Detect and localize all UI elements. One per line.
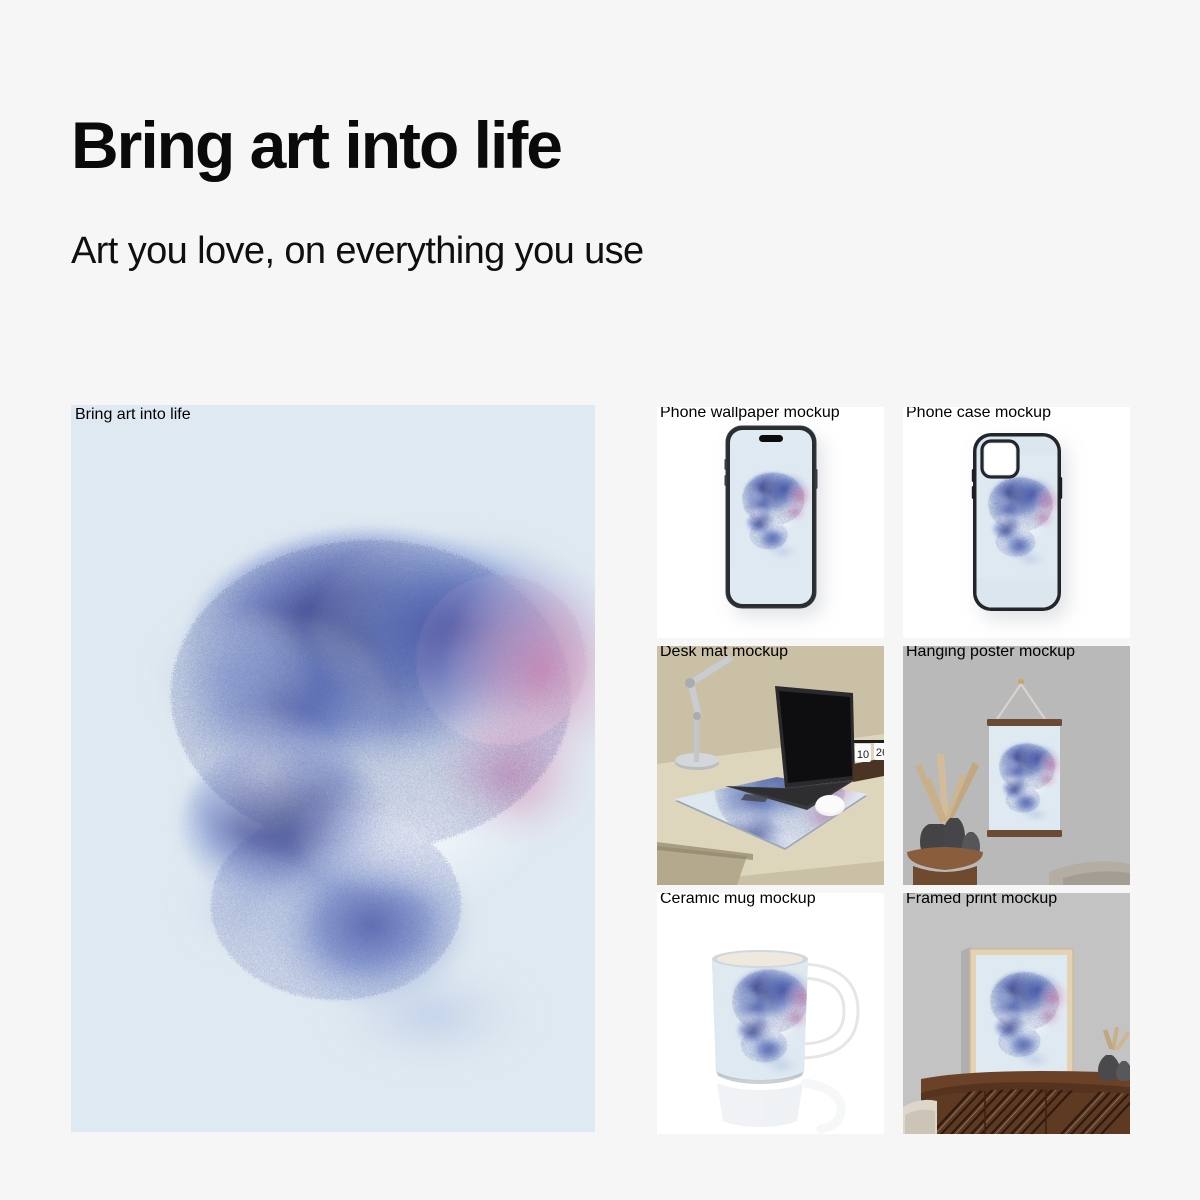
desk-mat-mockup: 10 26 Desk mat mockup: [657, 646, 884, 885]
case-button-power: [1059, 477, 1062, 499]
poster-rail-bottom: [987, 830, 1062, 837]
tile-label: Desk mat mockup: [660, 646, 788, 660]
calendar-day: 10: [857, 749, 869, 761]
phone-mockup: Phone wallpaper mockup: [657, 407, 884, 638]
calendar-date: 26: [876, 747, 884, 759]
case-button-volume-up: [972, 469, 975, 482]
page-subtitle: Art you love, on everything you use: [71, 178, 971, 270]
tile-desk-mat[interactable]: 10 26 Desk mat mockup: [657, 646, 884, 885]
tile-hanging-poster[interactable]: Hanging poster mockup: [903, 646, 1130, 885]
tile-label: Phone case mockup: [906, 407, 1051, 421]
product-tile-grid: Phone wallpaper mockup: [657, 407, 1130, 1134]
sideboard-chevron-pattern: [921, 1089, 1130, 1134]
mug-mockup: Ceramic mug mockup: [657, 893, 884, 1134]
hero-artwork-canvas: Bring art into life: [71, 405, 595, 1132]
sofa-cushion: [905, 1110, 935, 1134]
hanging-poster-mockup: Hanging poster mockup: [903, 646, 1130, 885]
tile-phone-case[interactable]: Phone case mockup: [903, 407, 1130, 638]
tile-phone-wallpaper[interactable]: Phone wallpaper mockup: [657, 407, 884, 638]
tile-label: Framed print mockup: [906, 893, 1057, 907]
mug-rim-inner: [717, 952, 803, 966]
product-gallery: Bring art into life Phone w: [71, 405, 1130, 1132]
phone-button-volume-down: [725, 475, 728, 486]
sideboard: [921, 1071, 1130, 1134]
tile-framed-print[interactable]: Framed print mockup: [903, 893, 1130, 1134]
phone-screen-artwork: [723, 430, 819, 604]
hero-artwork-panel[interactable]: Bring art into life: [71, 405, 595, 1132]
page-header: Bring art into life Art you love, on eve…: [71, 112, 971, 270]
phone-case-mockup: Phone case mockup: [903, 407, 1130, 638]
mouse-top: [816, 795, 844, 813]
dynamic-island-icon: [759, 435, 783, 442]
page-title: Bring art into life: [71, 112, 971, 178]
picture-frame: [969, 948, 1075, 1081]
camera-cutout-icon: [982, 441, 1018, 477]
framed-print-mockup: Framed print mockup: [903, 893, 1130, 1134]
flip-calendar: 10 26: [853, 740, 884, 782]
tile-ceramic-mug[interactable]: Ceramic mug mockup: [657, 893, 884, 1134]
tile-label: Hanging poster mockup: [906, 646, 1075, 660]
poster-rail-top: [987, 719, 1062, 726]
poster-artwork: [982, 724, 1068, 832]
phone-button-volume-up: [725, 459, 728, 470]
case-button-volume-down: [972, 486, 975, 499]
phone-button-power: [815, 469, 818, 489]
tile-label: Phone wallpaper mockup: [660, 407, 840, 421]
hero-label: Bring art into life: [75, 406, 191, 423]
tile-label: Ceramic mug mockup: [660, 893, 816, 907]
